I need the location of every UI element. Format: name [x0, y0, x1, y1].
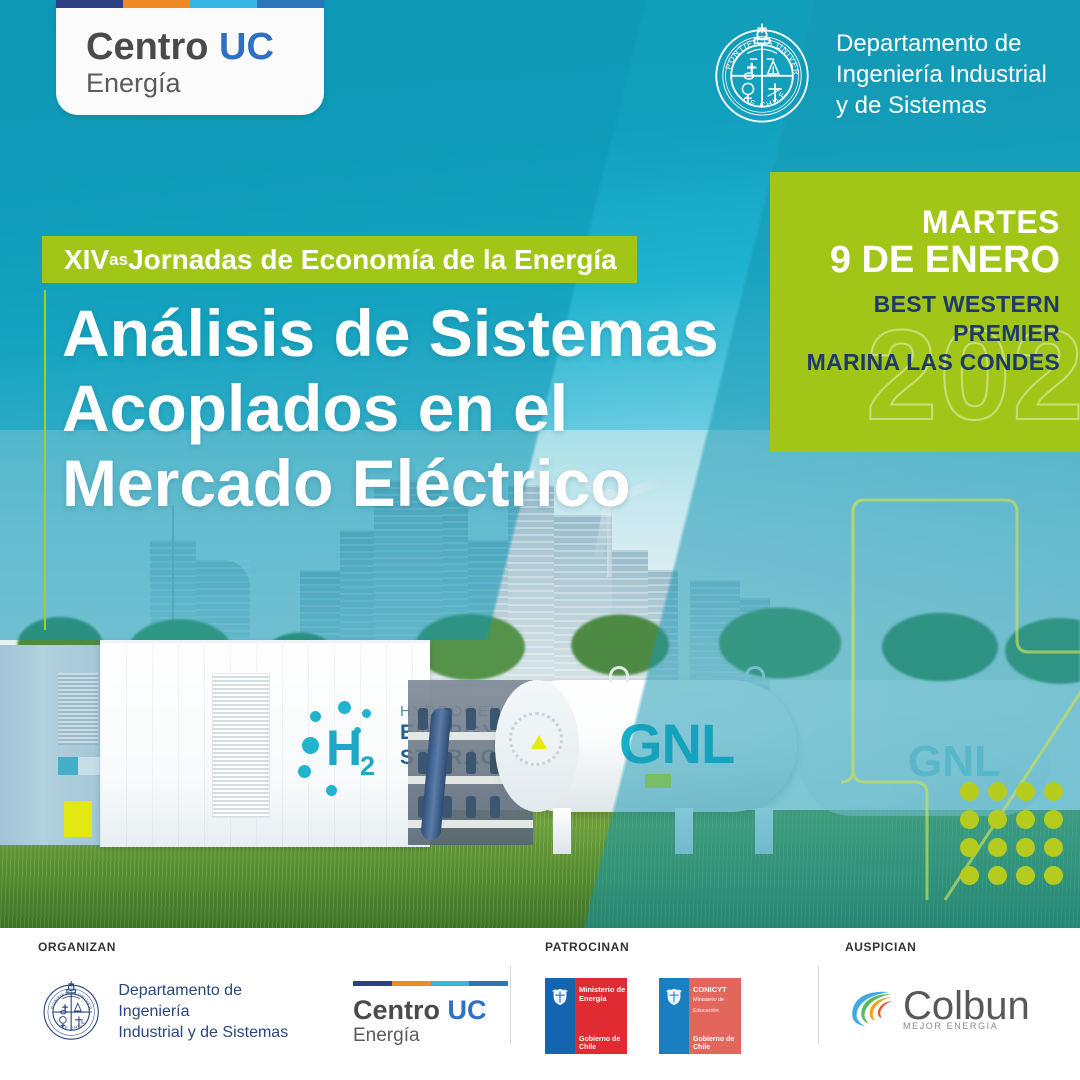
auspician-column: AUSPICIAN Colbun MEJOR ENERGIA [845, 928, 1075, 1080]
event-poster: H 2 HYDROGEN ENERGY STORAGE GNL [0, 0, 1080, 1080]
banner-ordinal-suffix: as [109, 245, 128, 275]
event-series-banner: XIVas Jornadas de Economía de la Energía [42, 236, 637, 283]
ministerio-name: Ministerio de Energía [579, 985, 625, 1003]
dept-footer-line-1: Departamento de Ingeniería [118, 980, 297, 1022]
centro-uc-wordmark: Centro UC [86, 26, 274, 68]
centro-uc-logo-card: Centro UC Energía [56, 0, 324, 115]
uc-header-block: PONTIFICIA UNIVERSIDAD CATOLICA DE CHILE… [706, 18, 1047, 130]
energia-word: Energía [86, 68, 181, 98]
conicyt-line-1: CONICYT [693, 985, 727, 994]
conicyt-line-2: Ministerio de Educación [693, 997, 724, 1014]
banner-series-text: Jornadas de Economía de la Energía [128, 245, 617, 275]
date-panel: 2024 MARTES 9 DE ENERO BEST WESTERN PREM… [770, 172, 1080, 452]
colbun-logo[interactable]: Colbun MEJOR ENERGIA [845, 984, 1075, 1032]
secondary-gnl-tank: GNL [800, 712, 1050, 816]
ministerio-line-1: Ministerio de [579, 985, 625, 994]
venue-line-1: BEST WESTERN PREMIER [770, 290, 1060, 348]
ministerio-line-2: Energía [579, 994, 607, 1003]
chile-coat-of-arms-icon [549, 986, 571, 1008]
ministerio-gov-label: Gobierno de Chile [579, 1036, 627, 1052]
centro-word: Centro [86, 26, 208, 68]
sponsor-footer: ORGANIZAN [0, 928, 1080, 1080]
electrical-cabinet [0, 645, 104, 845]
accent-vertical-line [44, 290, 46, 630]
louver-panel [212, 673, 270, 818]
dept-footer-name: Departamento de Ingeniería Industrial y … [118, 980, 297, 1043]
colbun-swoosh-icon [845, 984, 897, 1032]
title-line-3: Mercado Eléctrico [62, 446, 762, 521]
hazard-icon [531, 735, 547, 749]
centro-footer-word: Centro [353, 995, 440, 1025]
energia-footer-word: Energía [353, 1025, 508, 1047]
hazard-plate [645, 774, 671, 788]
svg-text:DE CHILE: DE CHILE [60, 1019, 86, 1031]
patrocinan-column: PATROCINAN Ministerio de Energía Gobiern… [545, 928, 815, 1080]
logo-color-stripe [56, 0, 324, 8]
patrocinan-label: PATROCINAN [545, 940, 815, 954]
tank-hatch [509, 712, 563, 766]
banner-roman-numeral: XIV [64, 245, 109, 275]
dept-line-2: Ingeniería Industrial [836, 59, 1047, 90]
event-weekday: MARTES [922, 204, 1060, 240]
hydrogen-storage-container: H 2 HYDROGEN ENERGY STORAGE [100, 640, 430, 847]
auspician-label: AUSPICIAN [845, 940, 1075, 954]
title-line-1: Análisis de Sistemas [62, 296, 762, 371]
dept-footer-logo[interactable]: PONTIFICIA UNIVERSIDAD CATOLICA DE CHILE… [38, 974, 297, 1048]
uc-word: UC [219, 26, 274, 68]
gnl-tank: GNL [497, 680, 797, 812]
tank-end-cap [495, 680, 579, 812]
dept-footer-line-2: Industrial y de Sistemas [118, 1022, 297, 1043]
gnl-ghost-label: GNL [908, 740, 1001, 784]
department-name: Departamento de Ingeniería Industrial y … [836, 28, 1047, 121]
ministerio-energia-logo[interactable]: Ministerio de Energía Gobierno de Chile [545, 978, 627, 1054]
footer-divider-1 [510, 966, 511, 1044]
centro-footer-logo[interactable]: Centro UC Energía [353, 981, 508, 1047]
conicyt-gov-label: Gobierno de Chile [693, 1036, 741, 1052]
event-venue: BEST WESTERN PREMIER MARINA LAS CONDES [770, 290, 1060, 377]
venue-line-2: MARINA LAS CONDES [770, 348, 1060, 377]
title-line-2: Acoplados en el [62, 371, 762, 446]
uc-footer-word: UC [448, 995, 487, 1025]
dept-line-3: y de Sistemas [836, 90, 1047, 121]
uc-crest-icon: PONTIFICIA UNIVERSIDAD CATOLICA DE CHILE [706, 18, 818, 130]
h2-logo-icon: H 2 [296, 701, 414, 801]
centro-footer-stripe [353, 981, 508, 986]
dept-line-1: Departamento de [836, 28, 1047, 59]
conicyt-logo[interactable]: CONICYT Ministerio de Educación Gobierno… [659, 978, 741, 1054]
h2-letter: H [326, 723, 362, 773]
footer-divider-2 [818, 966, 819, 1044]
chile-coat-of-arms-icon-2 [663, 986, 685, 1008]
gnl-label: GNL [619, 716, 734, 772]
conicyt-name: CONICYT Ministerio de Educación [693, 985, 741, 1016]
organizan-column: ORGANIZAN [38, 928, 508, 1080]
organizan-label: ORGANIZAN [38, 940, 508, 954]
page-title: Análisis de Sistemas Acoplados en el Mer… [62, 296, 762, 521]
event-date: 9 DE ENERO [830, 238, 1060, 282]
centro-footer-wordmark: Centro UC [353, 995, 508, 1025]
h2-subscript: 2 [360, 753, 375, 780]
uc-crest-small-icon: PONTIFICIA UNIVERSIDAD CATOLICA DE CHILE [38, 974, 104, 1048]
